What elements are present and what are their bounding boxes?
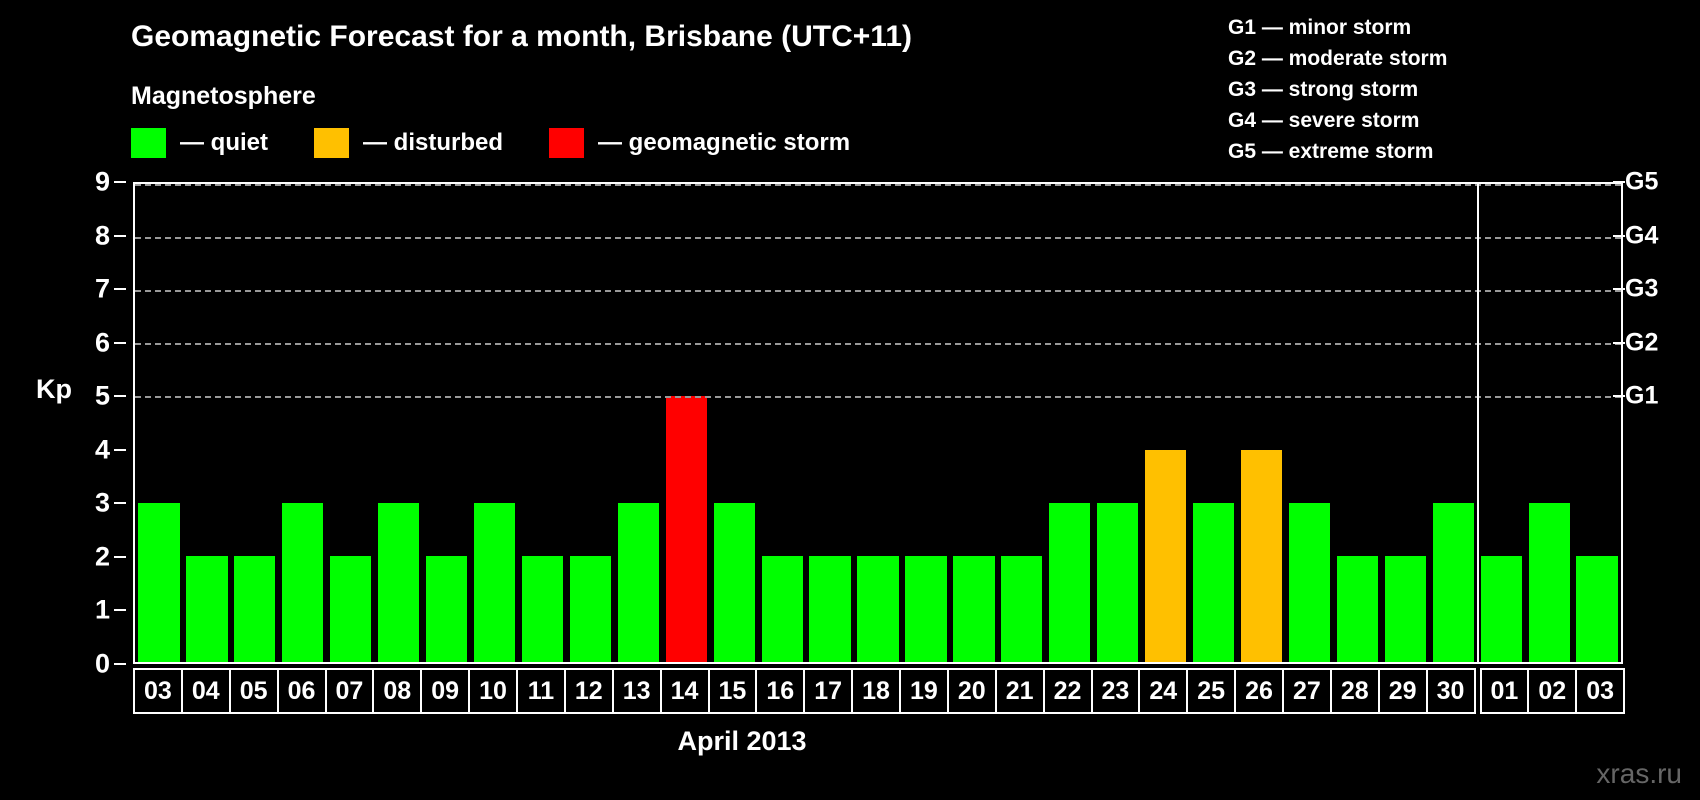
bar-cell[interactable]: [471, 184, 519, 662]
x-axis-day-label[interactable]: 02: [1527, 668, 1577, 714]
y-axis-tick-mark: [114, 663, 126, 665]
bar[interactable]: [1145, 450, 1186, 662]
y-axis-title: Kp: [36, 374, 72, 405]
g-axis-tick-mark: [1613, 288, 1625, 290]
y-axis-tick-label: 0: [95, 649, 110, 680]
bar-cell[interactable]: [1573, 184, 1621, 662]
green-swatch: [131, 128, 166, 158]
bar[interactable]: [1193, 503, 1234, 662]
plot-area: [133, 182, 1623, 664]
legend-item: — disturbed: [314, 128, 503, 158]
chart-subtitle: Magnetosphere: [131, 82, 316, 111]
storm-scale-legend: G1 — minor stormG2 — moderate stormG3 — …: [1228, 12, 1447, 167]
bar[interactable]: [618, 503, 659, 662]
y-axis-tick-mark: [114, 181, 126, 183]
x-axis-day-label[interactable]: 18: [851, 668, 901, 714]
bar-cell[interactable]: [1429, 184, 1477, 662]
bar-cell[interactable]: [566, 184, 614, 662]
g-scale-axis: G1G2G3G4G5: [1625, 182, 1695, 664]
x-axis-day-label[interactable]: 17: [803, 668, 853, 714]
x-axis-day-label[interactable]: 05: [229, 668, 279, 714]
bar[interactable]: [282, 503, 323, 662]
y-axis-tick-label: 2: [95, 541, 110, 572]
x-axis-day-labels: 0304050607080910111213141516171819202122…: [133, 668, 1623, 714]
x-axis-day-label[interactable]: 20: [947, 668, 997, 714]
y-axis-tick-mark: [114, 556, 126, 558]
bar[interactable]: [474, 503, 515, 662]
x-axis-day-label[interactable]: 16: [755, 668, 805, 714]
bar[interactable]: [330, 556, 371, 662]
x-axis-day-label[interactable]: 04: [181, 668, 231, 714]
x-axis-day-label[interactable]: 11: [516, 668, 566, 714]
bar[interactable]: [1241, 450, 1282, 662]
legend-item-label: — geomagnetic storm: [598, 129, 850, 157]
x-axis-day-label[interactable]: 25: [1186, 668, 1236, 714]
g-axis-tick-mark: [1613, 342, 1625, 344]
red-swatch: [549, 128, 584, 158]
x-axis-day-label[interactable]: 19: [899, 668, 949, 714]
bar-cell[interactable]: [183, 184, 231, 662]
y-axis-tick-mark: [114, 449, 126, 451]
g-axis-tick-label: G3: [1625, 275, 1658, 304]
bar-cell[interactable]: [662, 184, 710, 662]
x-axis-day-label[interactable]: 12: [564, 668, 614, 714]
bar-cell[interactable]: [950, 184, 998, 662]
bar[interactable]: [426, 556, 467, 662]
grid-line: [135, 184, 1621, 186]
storm-scale-row: G3 — strong storm: [1228, 74, 1447, 105]
bar[interactable]: [666, 396, 707, 662]
storm-scale-row: G2 — moderate storm: [1228, 43, 1447, 74]
watermark: xras.ru: [1596, 758, 1682, 790]
bar-cell[interactable]: [1142, 184, 1190, 662]
bar[interactable]: [1049, 503, 1090, 662]
bar-cell[interactable]: [710, 184, 758, 662]
chart-canvas: Geomagnetic Forecast for a month, Brisba…: [0, 0, 1700, 800]
x-axis-title: April 2013: [0, 726, 1700, 757]
bar-cell[interactable]: [1094, 184, 1142, 662]
y-axis-tick-mark: [114, 235, 126, 237]
grid-line: [135, 396, 1621, 398]
bar[interactable]: [1097, 503, 1138, 662]
bar[interactable]: [1481, 556, 1522, 662]
legend: — quiet— disturbed— geomagnetic storm: [131, 127, 896, 159]
bar[interactable]: [522, 556, 563, 662]
bar-cell[interactable]: [231, 184, 279, 662]
g-axis-tick-label: G4: [1625, 221, 1658, 250]
x-axis-day-label[interactable]: 21: [995, 668, 1045, 714]
g-axis-tick-label: G2: [1625, 328, 1658, 357]
bar[interactable]: [905, 556, 946, 662]
y-axis-tick-mark: [114, 342, 126, 344]
x-axis-day-label[interactable]: 24: [1138, 668, 1188, 714]
y-axis-tick-label: 7: [95, 274, 110, 305]
grid-line: [135, 237, 1621, 239]
y-axis-tick-label: 3: [95, 488, 110, 519]
g-axis-tick-mark: [1613, 235, 1625, 237]
bar[interactable]: [186, 556, 227, 662]
x-axis-day-label[interactable]: 30: [1426, 668, 1476, 714]
bar-cell[interactable]: [279, 184, 327, 662]
bar-cell[interactable]: [1381, 184, 1429, 662]
grid-line: [135, 343, 1621, 345]
x-axis-day-label[interactable]: 14: [660, 668, 710, 714]
bar-cell[interactable]: [806, 184, 854, 662]
bar-cell[interactable]: [1286, 184, 1334, 662]
bar-cell[interactable]: [423, 184, 471, 662]
bar-cell[interactable]: [1477, 184, 1525, 662]
bar[interactable]: [1289, 503, 1330, 662]
x-axis-day-label[interactable]: 15: [708, 668, 758, 714]
x-axis-day-label[interactable]: 29: [1378, 668, 1428, 714]
x-axis-day-label[interactable]: 08: [372, 668, 422, 714]
x-axis-day-label[interactable]: 27: [1282, 668, 1332, 714]
bar[interactable]: [809, 556, 850, 662]
legend-item: — geomagnetic storm: [549, 128, 850, 158]
bar[interactable]: [570, 556, 611, 662]
bar[interactable]: [857, 556, 898, 662]
bar-cell[interactable]: [1046, 184, 1094, 662]
x-axis-day-label[interactable]: 01: [1480, 668, 1530, 714]
y-axis-tick-label: 5: [95, 381, 110, 412]
g-axis-tick-mark: [1613, 395, 1625, 397]
bar-cell[interactable]: [519, 184, 567, 662]
y-axis-tick-mark: [114, 609, 126, 611]
x-axis-day-label[interactable]: 28: [1330, 668, 1380, 714]
bar-cell[interactable]: [1333, 184, 1381, 662]
storm-scale-row: G5 — extreme storm: [1228, 136, 1447, 167]
y-axis-tick-mark: [114, 502, 126, 504]
x-axis-day-label[interactable]: 03: [133, 668, 183, 714]
bar[interactable]: [714, 503, 755, 662]
bar-cell[interactable]: [902, 184, 950, 662]
g-axis-tick-label: G1: [1625, 382, 1658, 411]
x-axis-day-label[interactable]: 06: [277, 668, 327, 714]
x-axis-day-label[interactable]: 10: [468, 668, 518, 714]
bar-cell[interactable]: [1238, 184, 1286, 662]
bar[interactable]: [953, 556, 994, 662]
bar-cell[interactable]: [1190, 184, 1238, 662]
x-axis-day-label[interactable]: 23: [1091, 668, 1141, 714]
legend-item-label: — quiet: [180, 129, 268, 157]
bar[interactable]: [1433, 503, 1474, 662]
bar[interactable]: [762, 556, 803, 662]
bar[interactable]: [234, 556, 275, 662]
g-axis-tick-label: G5: [1625, 168, 1658, 197]
y-axis-tick-label: 4: [95, 434, 110, 465]
bar-cell[interactable]: [614, 184, 662, 662]
y-axis-tick-label: 6: [95, 327, 110, 358]
bar-cell[interactable]: [758, 184, 806, 662]
page-title: Geomagnetic Forecast for a month, Brisba…: [131, 20, 912, 54]
bar-cell[interactable]: [1525, 184, 1573, 662]
y-axis: 0123456789: [60, 182, 126, 664]
bar-cell[interactable]: [375, 184, 423, 662]
y-axis-tick-label: 8: [95, 220, 110, 251]
bar[interactable]: [1385, 556, 1426, 662]
bar[interactable]: [1337, 556, 1378, 662]
bar-series: [135, 184, 1621, 662]
orange-swatch: [314, 128, 349, 158]
legend-item-label: — disturbed: [363, 129, 503, 157]
legend-item: — quiet: [131, 128, 268, 158]
y-axis-tick-mark: [114, 288, 126, 290]
x-axis-day-label[interactable]: 09: [420, 668, 470, 714]
bar[interactable]: [138, 503, 179, 662]
bar-cell[interactable]: [135, 184, 183, 662]
grid-line: [135, 290, 1621, 292]
bar[interactable]: [1529, 503, 1570, 662]
x-axis-day-label[interactable]: 26: [1234, 668, 1284, 714]
g-axis-tick-mark: [1613, 181, 1625, 183]
x-axis-day-label[interactable]: 22: [1043, 668, 1093, 714]
y-axis-tick-label: 1: [95, 595, 110, 626]
bar-cell[interactable]: [327, 184, 375, 662]
x-axis-day-label[interactable]: 03: [1575, 668, 1625, 714]
month-divider: [1477, 184, 1479, 662]
y-axis-tick-label: 9: [95, 167, 110, 198]
x-axis-day-label[interactable]: 13: [612, 668, 662, 714]
storm-scale-row: G1 — minor storm: [1228, 12, 1447, 43]
y-axis-tick-mark: [114, 395, 126, 397]
storm-scale-row: G4 — severe storm: [1228, 105, 1447, 136]
bar-cell[interactable]: [998, 184, 1046, 662]
bar[interactable]: [1001, 556, 1042, 662]
x-axis-day-label[interactable]: 07: [325, 668, 375, 714]
bar-cell[interactable]: [854, 184, 902, 662]
bar[interactable]: [1576, 556, 1617, 662]
bar[interactable]: [378, 503, 419, 662]
